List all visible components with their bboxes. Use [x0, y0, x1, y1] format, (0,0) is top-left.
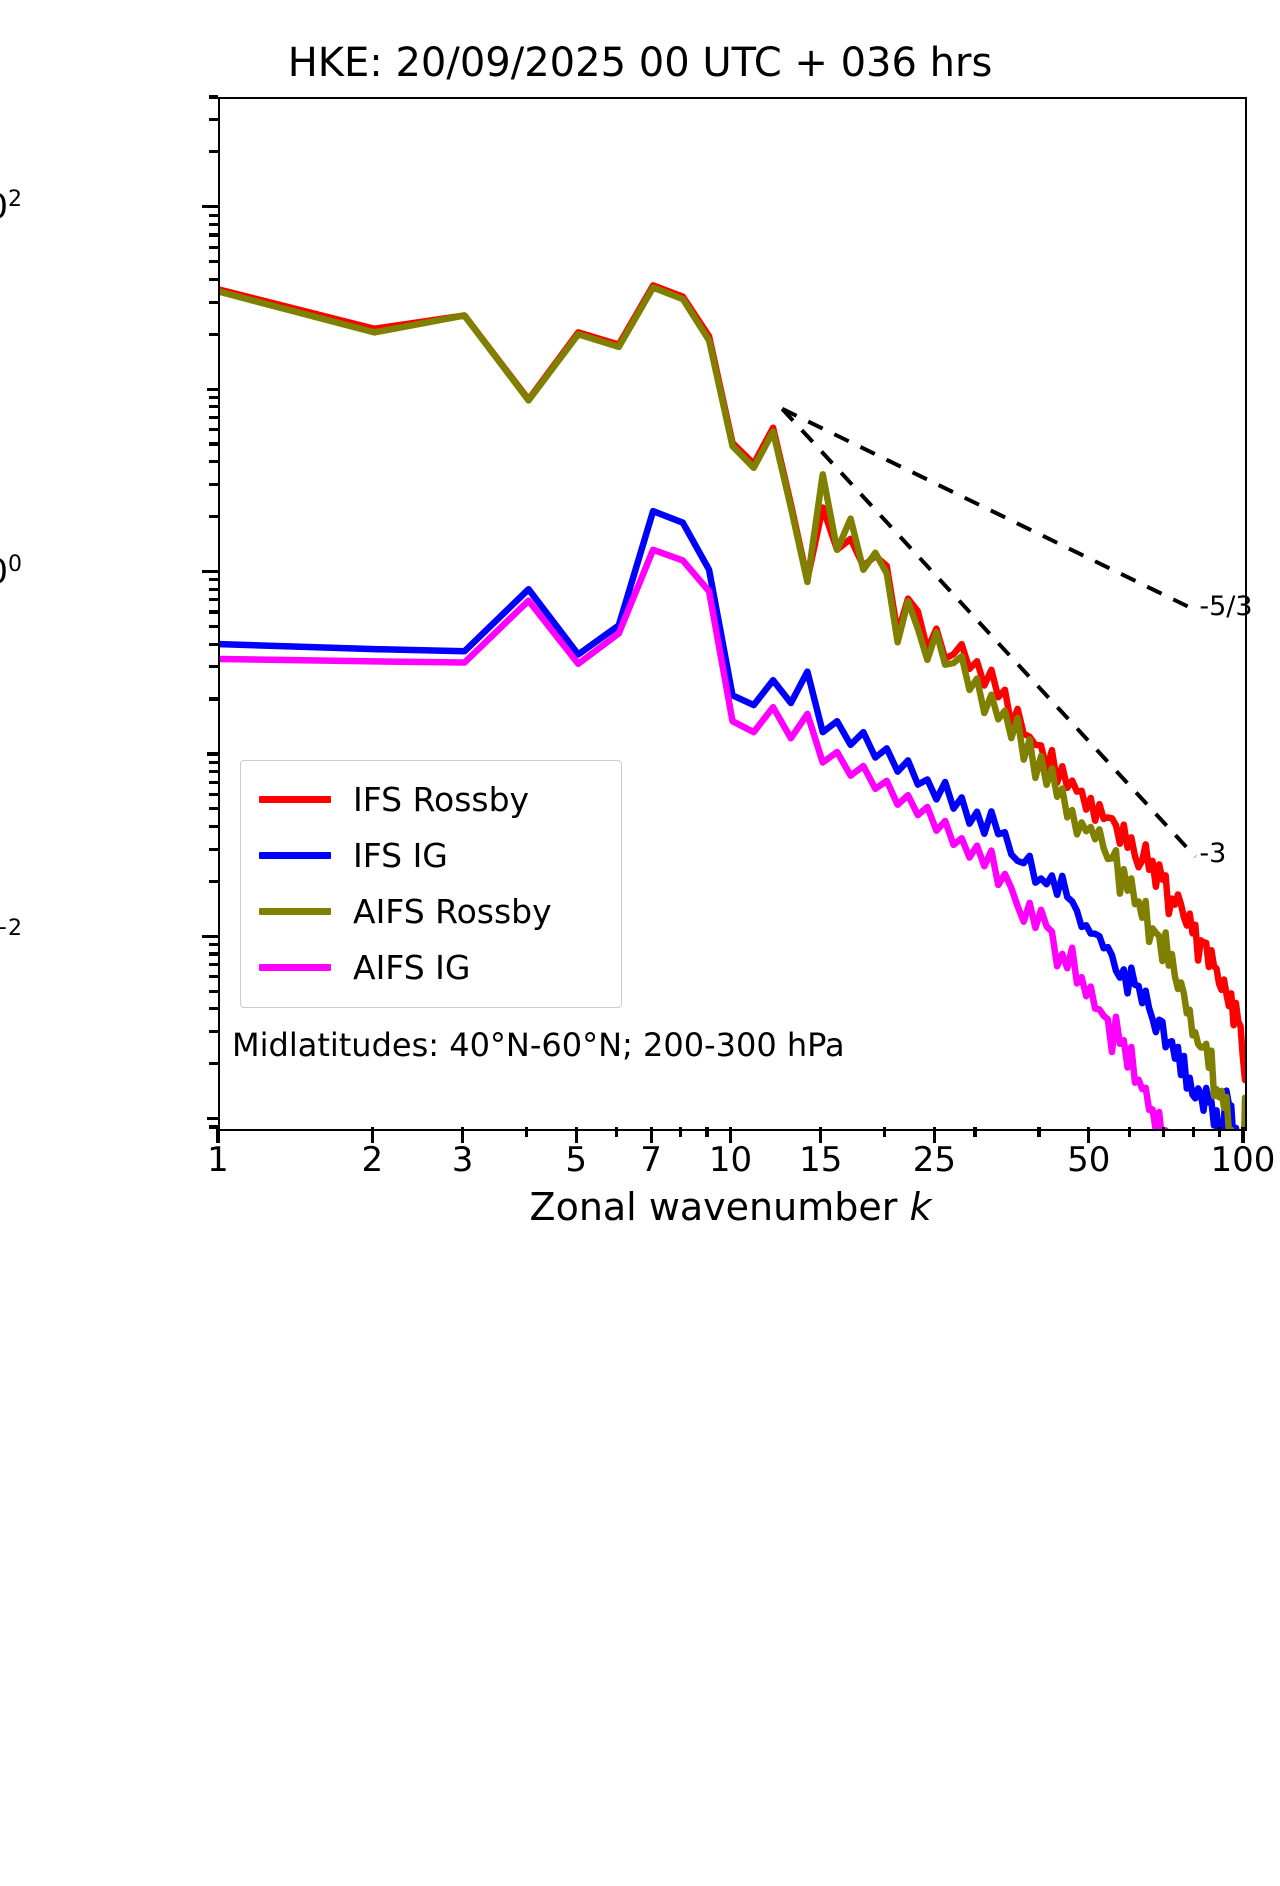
tick-mark [209, 807, 218, 810]
tick-mark [202, 205, 218, 208]
x-axis-label: Zonal wavenumber k [218, 1185, 1243, 1229]
tick-mark [209, 880, 218, 883]
legend-label-ifs-rossby: IFS Rossby [353, 783, 529, 816]
tick-mark [209, 428, 218, 431]
tick-mark [209, 625, 218, 628]
x-tick-label: 1 [207, 1140, 229, 1180]
tick-mark [209, 848, 218, 851]
tick-mark [202, 935, 218, 938]
tick-mark [209, 515, 218, 518]
legend-item-ifs-ig[interactable]: IFS IG [241, 827, 621, 883]
tick-mark [209, 610, 218, 613]
figure-root: HKE: 20/09/2025 00 UTC + 036 hrs Horizon… [0, 0, 1280, 1288]
tick-mark [209, 460, 218, 463]
tick-mark [209, 952, 218, 955]
tick-mark [209, 260, 218, 263]
tick-mark [209, 483, 218, 486]
tick-mark [209, 233, 218, 236]
legend-item-ifs-rossby[interactable]: IFS Rossby [241, 771, 621, 827]
tick-mark [209, 761, 218, 764]
tick-mark [209, 278, 218, 281]
tick-mark [209, 781, 218, 784]
tick-mark [209, 963, 218, 966]
slope-label-minus-three: -3 [1199, 838, 1226, 869]
x-tick-label: 50 [1067, 1140, 1110, 1180]
tick-mark [705, 1127, 708, 1137]
reference-slope-lines [782, 409, 1195, 857]
x-tick-label: 5 [565, 1140, 587, 1180]
tick-mark [209, 990, 218, 993]
legend-label-ifs-ig: IFS IG [353, 839, 448, 872]
tick-mark [1218, 1127, 1221, 1137]
tick-mark [209, 214, 218, 217]
slope-label-five-thirds: -5/3 [1199, 591, 1252, 622]
legend-item-aifs-ig[interactable]: AIFS IG [241, 939, 621, 995]
legend-label-aifs-ig: AIFS IG [353, 951, 470, 984]
tick-mark [525, 1127, 528, 1137]
tick-mark [1037, 1127, 1040, 1137]
tick-mark [1192, 1127, 1195, 1137]
tick-mark [209, 150, 218, 153]
tick-mark [209, 578, 218, 581]
y-tick-label: 100 [0, 551, 22, 591]
tick-mark [209, 770, 218, 773]
tick-mark [209, 396, 218, 399]
tick-mark [973, 1127, 976, 1137]
chart-title: HKE: 20/09/2025 00 UTC + 036 hrs [0, 40, 1280, 86]
tick-mark [209, 1062, 218, 1065]
tick-mark [209, 975, 218, 978]
x-axis-label-symbol: k [909, 1185, 931, 1229]
tick-mark [883, 1127, 886, 1137]
y-tick-label: 10−2 [0, 916, 22, 956]
legend-swatch-ifs-rossby [259, 796, 331, 803]
tick-mark [209, 793, 218, 796]
x-tick-label: 15 [799, 1140, 842, 1180]
tick-mark [202, 570, 218, 573]
tick-mark [209, 246, 218, 249]
x-tick-label: 100 [1211, 1140, 1276, 1180]
region-annotation: Midlatitudes: 40°N-60°N; 200-300 hPa [232, 1026, 845, 1064]
tick-mark [209, 95, 218, 98]
y-tick-label: 102 [0, 187, 22, 227]
tick-mark [207, 388, 218, 391]
tick-mark [209, 665, 218, 668]
x-tick-label: 25 [913, 1140, 956, 1180]
tick-mark [207, 752, 218, 755]
x-axis-label-text: Zonal wavenumber [530, 1185, 910, 1229]
tick-mark [209, 223, 218, 226]
legend-swatch-aifs-ig [259, 964, 331, 971]
tick-mark [209, 1030, 218, 1033]
tick-mark [209, 405, 218, 408]
tick-mark [209, 598, 218, 601]
tick-mark [615, 1127, 618, 1137]
tick-mark [209, 825, 218, 828]
x-tick-label: 3 [452, 1140, 474, 1180]
tick-mark [209, 442, 218, 445]
reference-line-minus-three [782, 409, 1195, 857]
tick-mark [209, 943, 218, 946]
legend-label-aifs-rossby: AIFS Rossby [353, 895, 552, 928]
tick-mark [209, 301, 218, 304]
legend-swatch-ifs-ig [259, 852, 331, 859]
x-tick-label: 7 [640, 1140, 662, 1180]
tick-mark [209, 118, 218, 121]
x-tick-label: 2 [361, 1140, 383, 1180]
legend-item-aifs-rossby[interactable]: AIFS Rossby [241, 883, 621, 939]
tick-mark [209, 416, 218, 419]
tick-mark [679, 1127, 682, 1137]
tick-mark [209, 588, 218, 591]
tick-mark [209, 333, 218, 336]
reference-line-five-thirds [782, 409, 1195, 610]
tick-mark [209, 697, 218, 700]
x-tick-label: 10 [709, 1140, 752, 1180]
tick-mark [207, 1117, 218, 1120]
chart-legend: IFS Rossby IFS IG AIFS Rossby AIFS IG [240, 760, 622, 1008]
tick-mark [209, 643, 218, 646]
tick-mark [1128, 1127, 1131, 1137]
tick-mark [1162, 1127, 1165, 1137]
tick-mark [209, 1007, 218, 1010]
legend-swatch-aifs-rossby [259, 908, 331, 915]
